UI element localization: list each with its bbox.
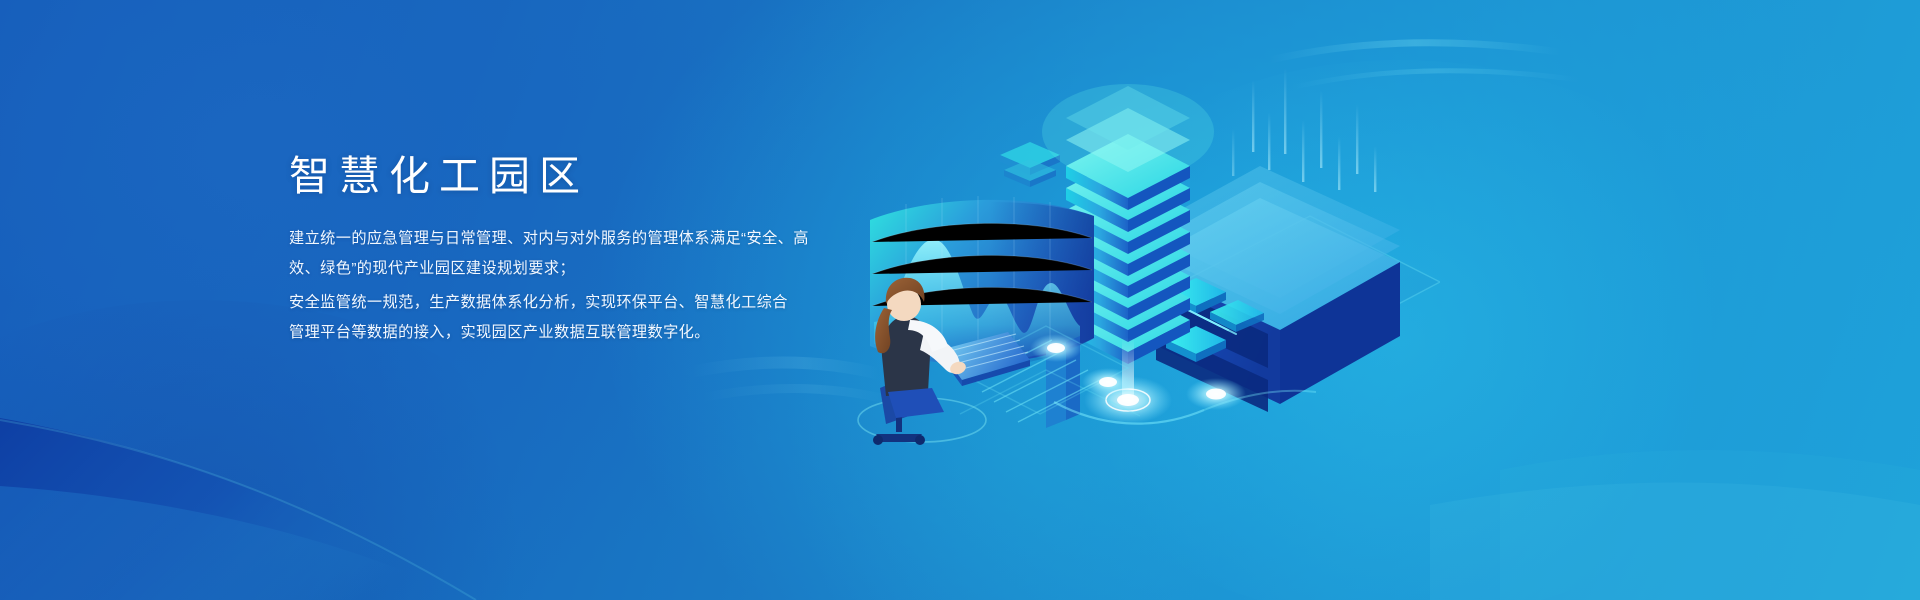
description-line: 管理平台等数据的接入，实现园区产业数据互联管理数字化。 — [289, 318, 909, 348]
illustration-svg — [840, 20, 1440, 480]
description-line: 效、绿色”的现代产业园区建设规划要求； — [289, 254, 909, 284]
description-line: 建立统一的应急管理与日常管理、对内与对外服务的管理体系满足“安全、高 — [289, 224, 909, 254]
page-title: 智慧化工园区 — [289, 150, 909, 202]
smart-chemical-park-banner: 智慧化工园区 建立统一的应急管理与日常管理、对内与对外服务的管理体系满足“安全、… — [0, 0, 1920, 600]
description-line: 安全监管统一规范，生产数据体系化分析，实现环保平台、智慧化工综合 — [289, 288, 909, 318]
banner-description: 建立统一的应急管理与日常管理、对内与对外服务的管理体系满足“安全、高 效、绿色”… — [289, 224, 909, 348]
smart-park-illustration — [840, 20, 1440, 480]
banner-text-block: 智慧化工园区 建立统一的应急管理与日常管理、对内与对外服务的管理体系满足“安全、… — [289, 150, 909, 348]
